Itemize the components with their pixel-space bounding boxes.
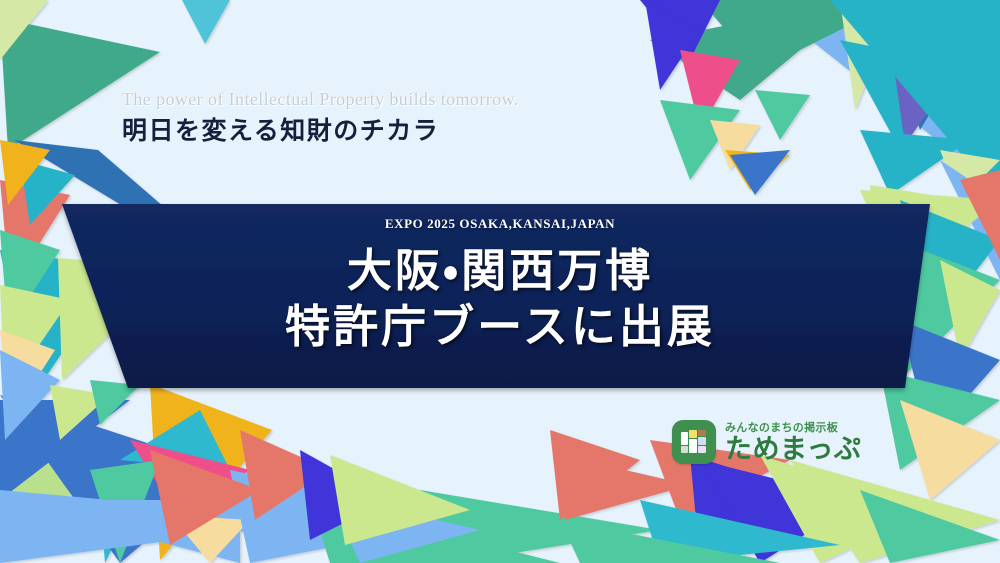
banner-content: EXPO 2025 OSAKA,KANSAI,JAPAN 大阪・関西万博 特許庁… [0,196,1000,396]
decor-triangle [840,0,900,110]
decor-triangle [730,150,790,195]
decor-triangle [0,430,96,563]
decor-triangle [330,495,480,563]
decor-triangle [790,460,1000,563]
brand-logo[interactable]: みんなのまちの掲示板 ためまっぷ [672,420,861,464]
decor-triangle [150,450,260,545]
decor-triangle [550,430,640,520]
decor-triangle [860,130,970,195]
logo-tagline: みんなのまちの掲示板 [725,422,861,433]
decor-triangle [560,520,780,563]
decor-triangle [840,40,940,150]
decor-triangle [182,0,230,44]
poster-root: The power of Intellectual Property build… [0,0,1000,563]
decor-triangle [710,120,760,170]
decor-triangle [555,455,640,520]
decor-triangle [940,70,1000,150]
decor-triangle [860,490,1000,563]
decor-triangle [830,0,1000,200]
decor-triangle [755,90,810,140]
decor-triangle [0,395,230,563]
decor-triangle [700,0,900,70]
headline-line-2: 特許庁ブースに出展 [285,298,715,356]
logo-text-group: みんなのまちの掲示板 ためまっぷ [725,422,861,463]
decor-triangle [760,455,930,563]
decor-triangle [760,0,1000,190]
header-text-block: The power of Intellectual Property build… [122,88,519,147]
decor-triangle [96,450,150,563]
decor-triangle [645,0,700,90]
decor-triangle [640,500,840,563]
decor-triangle [650,0,860,100]
decor-triangle [640,0,720,60]
expo-label: EXPO 2025 OSAKA,KANSAI,JAPAN [385,216,615,232]
decor-triangle [310,500,560,563]
decor-triangle [880,0,980,130]
decor-triangle [0,490,330,563]
decor-triangle [680,50,740,130]
decor-triangle [880,0,1000,120]
decor-triangle [690,455,800,563]
decor-triangle [0,0,48,60]
decor-triangle [725,150,790,190]
decor-triangle [130,440,250,520]
decor-triangle [890,40,960,145]
decor-triangle [560,455,690,520]
tagline-english: The power of Intellectual Property build… [122,88,519,111]
decor-triangle [700,460,860,563]
bulletin-board-icon [672,420,716,464]
decor-triangle [170,515,250,563]
navy-banner: EXPO 2025 OSAKA,KANSAI,JAPAN 大阪・関西万博 特許庁… [0,196,1000,396]
decor-triangle [420,490,660,563]
decor-triangle [120,410,230,470]
decor-triangle [330,455,470,545]
decor-triangle [300,450,390,540]
tagline-japanese: 明日を変える知財のチカラ [122,115,519,148]
headline-line-1: 大阪・関西万博 [347,242,653,300]
decor-triangle [940,150,1000,200]
logo-wordmark: ためまっぷ [725,436,861,463]
decor-triangle [0,400,130,500]
decor-triangle [240,430,330,520]
decor-triangle [660,100,740,180]
decor-triangle [90,460,160,563]
decor-triangle [0,500,240,563]
decor-triangle [900,400,1000,500]
decor-triangle [150,384,272,560]
decor-triangle [230,470,470,563]
